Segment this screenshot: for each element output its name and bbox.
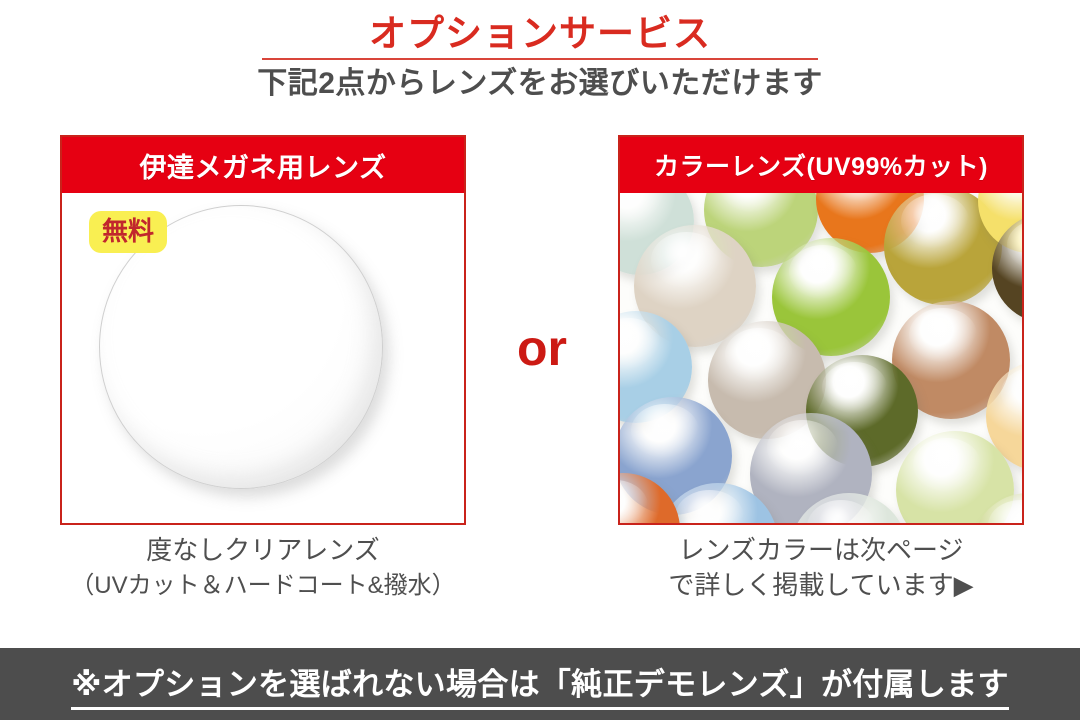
card-body-color-lens — [620, 193, 1022, 523]
page-header: オプションサービス 下記2点からレンズをお選びいただけます — [0, 0, 1080, 122]
card-body-clear-lens: 無料 — [62, 193, 464, 523]
page-title: オプションサービス — [0, 12, 1080, 56]
option-card-clear-lens[interactable]: 伊達メガネ用レンズ 無料 — [60, 135, 466, 525]
free-badge: 無料 — [89, 211, 167, 253]
option-card-color-lens[interactable]: カラーレンズ(UV99%カット) — [618, 135, 1024, 525]
or-separator: or — [466, 318, 618, 378]
card-header-label: 伊達メガネ用レンズ — [140, 146, 387, 185]
card-header-color-lens: カラーレンズ(UV99%カット) — [620, 137, 1022, 193]
page-subtitle: 下記2点からレンズをお選びいただけます — [0, 62, 1080, 106]
color-lens-grid — [620, 193, 1022, 523]
caption-line-2: で詳しく掲載しています▶ — [610, 568, 1032, 603]
card-header-label: カラーレンズ(UV99%カット) — [654, 147, 988, 183]
caption-line-1: 度なしクリアレンズ — [45, 533, 481, 568]
caption-color-lens: レンズカラーは次ページ で詳しく掲載しています▶ — [610, 533, 1032, 603]
free-badge-label: 無料 — [102, 216, 154, 246]
caption-line-2: （UVカット＆ハードコート&撥水） — [45, 568, 481, 603]
title-underline-rule — [262, 58, 818, 60]
card-header-clear-lens: 伊達メガネ用レンズ — [62, 137, 464, 193]
footer-notice-label: ※オプションを選ばれない場合は「純正デモレンズ」が付属します — [71, 659, 1009, 710]
caption-clear-lens: 度なしクリアレンズ （UVカット＆ハードコート&撥水） — [45, 533, 481, 603]
caption-line-1: レンズカラーは次ページ — [610, 533, 1032, 568]
footer-notice-banner: ※オプションを選ばれない場合は「純正デモレンズ」が付属します — [0, 648, 1080, 720]
